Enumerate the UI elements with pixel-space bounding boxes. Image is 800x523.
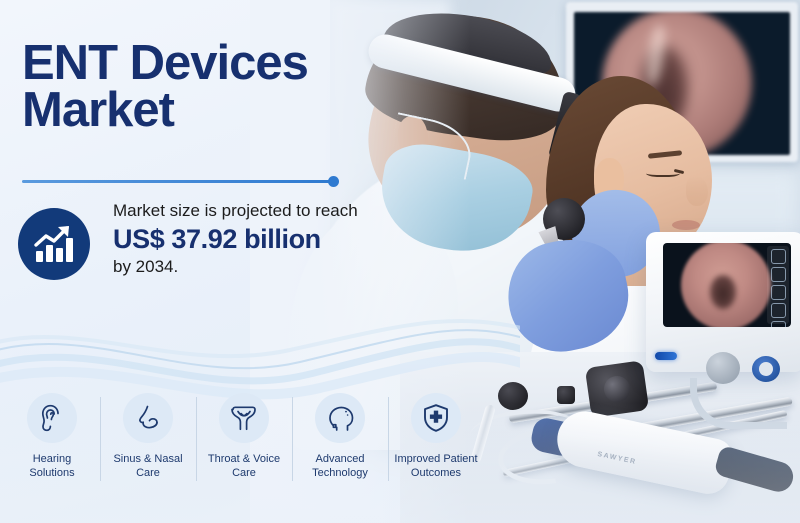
patient-nose — [686, 176, 708, 206]
growth-bar-chart-icon — [18, 208, 90, 280]
throat-larynx-icon — [219, 393, 269, 443]
ear-icon — [27, 393, 77, 443]
endoscopic-throat-shadow — [710, 275, 736, 309]
feature-advanced-technology[interactable]: AdvancedTechnology — [292, 393, 388, 503]
shield-cross-icon — [411, 393, 461, 443]
stat-lead-text: Market size is projected to reach — [113, 200, 383, 221]
device-screen-toolbar[interactable] — [767, 246, 789, 324]
device-icon-3[interactable] — [771, 285, 786, 300]
device-display-screen — [663, 243, 791, 327]
feature-sinus-nasal-care[interactable]: Sinus & NasalCare — [100, 393, 196, 503]
head-profile-icon — [315, 393, 365, 443]
feature-label: AdvancedTechnology — [312, 452, 368, 481]
title-line-2: Market — [22, 87, 382, 134]
head-profile-glyph — [325, 403, 355, 433]
device-icon-5[interactable] — [771, 321, 786, 327]
feature-improved-patient-outcomes[interactable]: Improved PatientOutcomes — [388, 393, 484, 503]
feature-label: HearingSolutions — [29, 452, 74, 481]
page-title: ENT Devices Market — [22, 40, 382, 134]
patient-lips — [672, 220, 700, 230]
device-icon-2[interactable] — [771, 267, 786, 282]
ent-devices-market-banner: SAWYER — [0, 0, 800, 523]
feature-label: Sinus & NasalCare — [113, 452, 182, 481]
title-divider — [22, 180, 334, 183]
device-icon-4[interactable] — [771, 303, 786, 318]
feature-label: Improved PatientOutcomes — [394, 452, 477, 481]
divider-end-dot — [328, 176, 339, 187]
shield-cross-glyph — [422, 403, 450, 433]
nose-icon — [123, 393, 173, 443]
feature-list: HearingSolutions Sinus & NasalCare T — [4, 393, 484, 503]
device-icon-1[interactable] — [771, 249, 786, 264]
growth-chart-glyph — [33, 224, 75, 264]
endoscope-light-post — [557, 386, 575, 404]
feature-label: Throat & VoiceCare — [208, 452, 280, 481]
feature-hearing-solutions[interactable]: HearingSolutions — [4, 393, 100, 503]
ear-glyph — [38, 403, 66, 433]
larynx-glyph — [229, 403, 259, 433]
stat-year: by 2034. — [113, 257, 383, 277]
title-line-1: ENT Devices — [22, 40, 382, 87]
stat-value: US$ 37.92 billion — [113, 225, 383, 255]
device-power-indicator[interactable] — [655, 352, 677, 360]
nose-glyph — [133, 404, 163, 432]
market-stat-text: Market size is projected to reach US$ 37… — [113, 200, 383, 277]
feature-throat-voice-care[interactable]: Throat & VoiceCare — [196, 393, 292, 503]
